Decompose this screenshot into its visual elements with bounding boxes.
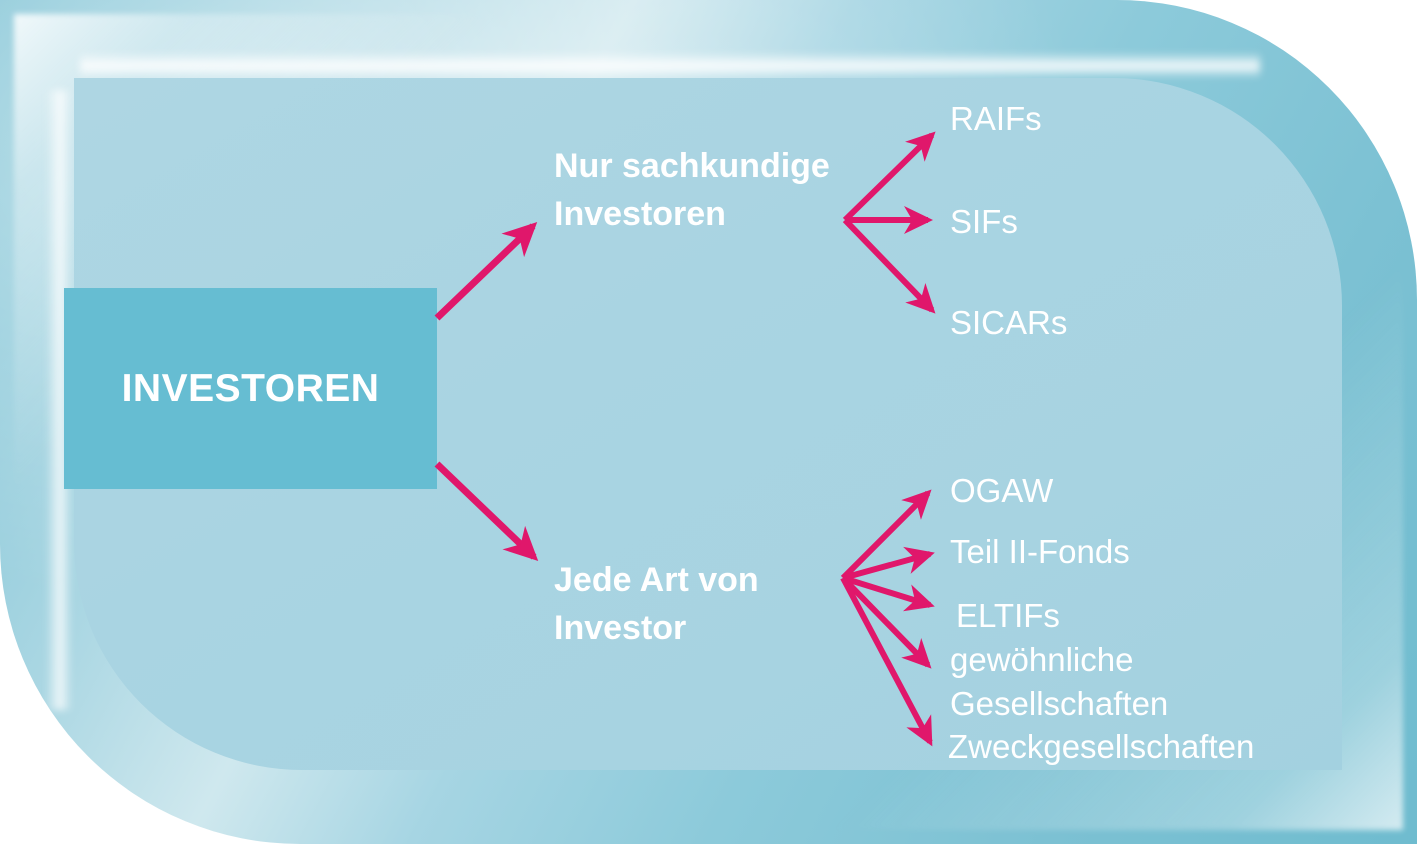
leaf-label-zweckgesellschaften: Zweckgesellschaften [948, 725, 1254, 769]
investoren-box-label: INVESTOREN [122, 369, 380, 408]
investoren-box: INVESTOREN [64, 288, 437, 489]
leaf-label-raifs: RAIFs [950, 97, 1042, 141]
leaf-label-sicars: SICARs [950, 301, 1067, 345]
diagram-canvas: INVESTOREN Nur sachkundige Investoren Je… [0, 0, 1417, 844]
leaf-label-sifs: SIFs [950, 200, 1018, 244]
leaf-label-eltifs: ELTIFs [956, 594, 1060, 638]
leaf-label-teil-ii-fonds: Teil II-Fonds [950, 530, 1130, 574]
branch-label-qualified-investors: Nur sachkundige Investoren [554, 142, 894, 239]
leaf-label-ogaw: OGAW [950, 469, 1053, 513]
leaf-label-gewoehnliche-gesellschaften: gewöhnliche Gesellschaften [950, 638, 1168, 725]
panel-gloss-top [80, 52, 1260, 78]
branch-label-any-investor: Jede Art von Investor [554, 556, 884, 653]
